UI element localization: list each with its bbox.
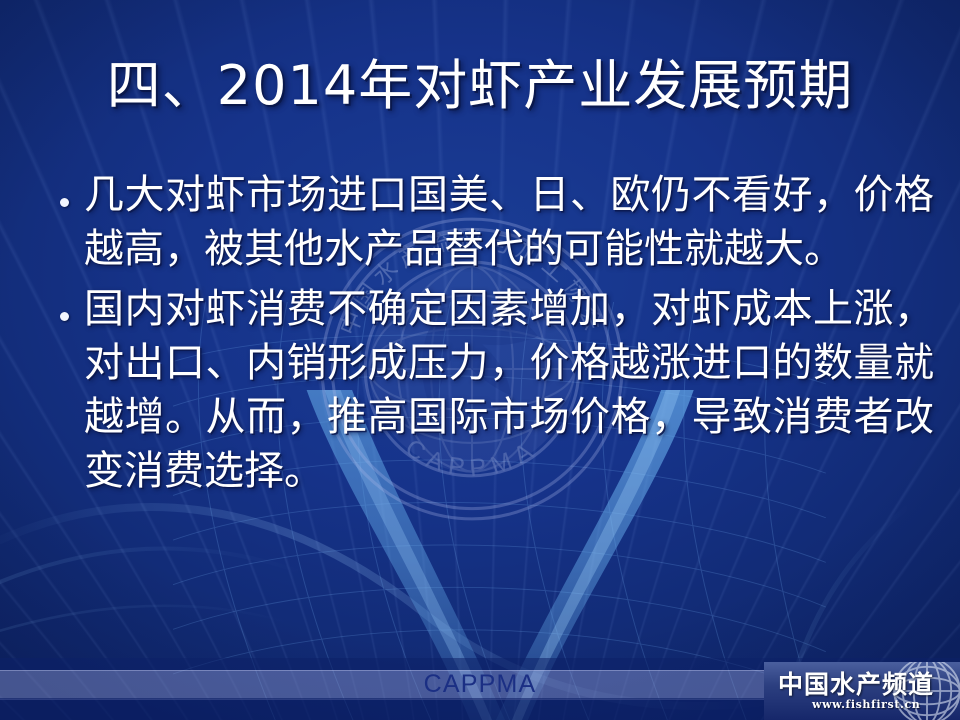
list-item[interactable]: 几大对虾市场进口国美、日、欧仍不看好，价格越高，被其他水产品替代的可能性就越大。	[44, 168, 934, 276]
slide-title: 四、2014年对虾产业发展预期	[0, 50, 960, 122]
bullet-dot-icon	[44, 282, 84, 325]
bullet-dot-icon	[44, 168, 84, 211]
bullet-text: 国内对虾消费不确定因素增加，对虾成本上涨，对出口、内销形成压力，价格越涨进口的数…	[84, 282, 934, 498]
slide-canvas: 中国水产流通与加工协会 CAPPMA 四、2014年对虾产业发展预期 几大对虾市…	[0, 0, 960, 720]
bullet-text: 几大对虾市场进口国美、日、欧仍不看好，价格越高，被其他水产品替代的可能性就越大。	[84, 168, 934, 276]
channel-logo[interactable]: 中国水产频道 www.fishfirst.cn	[764, 662, 960, 720]
logo-url: www.fishfirst.cn	[812, 698, 920, 711]
logo-name-cn: 中国水产频道	[778, 670, 934, 700]
list-item[interactable]: 国内对虾消费不确定因素增加，对虾成本上涨，对出口、内销形成压力，价格越涨进口的数…	[44, 282, 934, 498]
slide-body: 几大对虾市场进口国美、日、欧仍不看好，价格越高，被其他水产品替代的可能性就越大。…	[44, 168, 934, 504]
